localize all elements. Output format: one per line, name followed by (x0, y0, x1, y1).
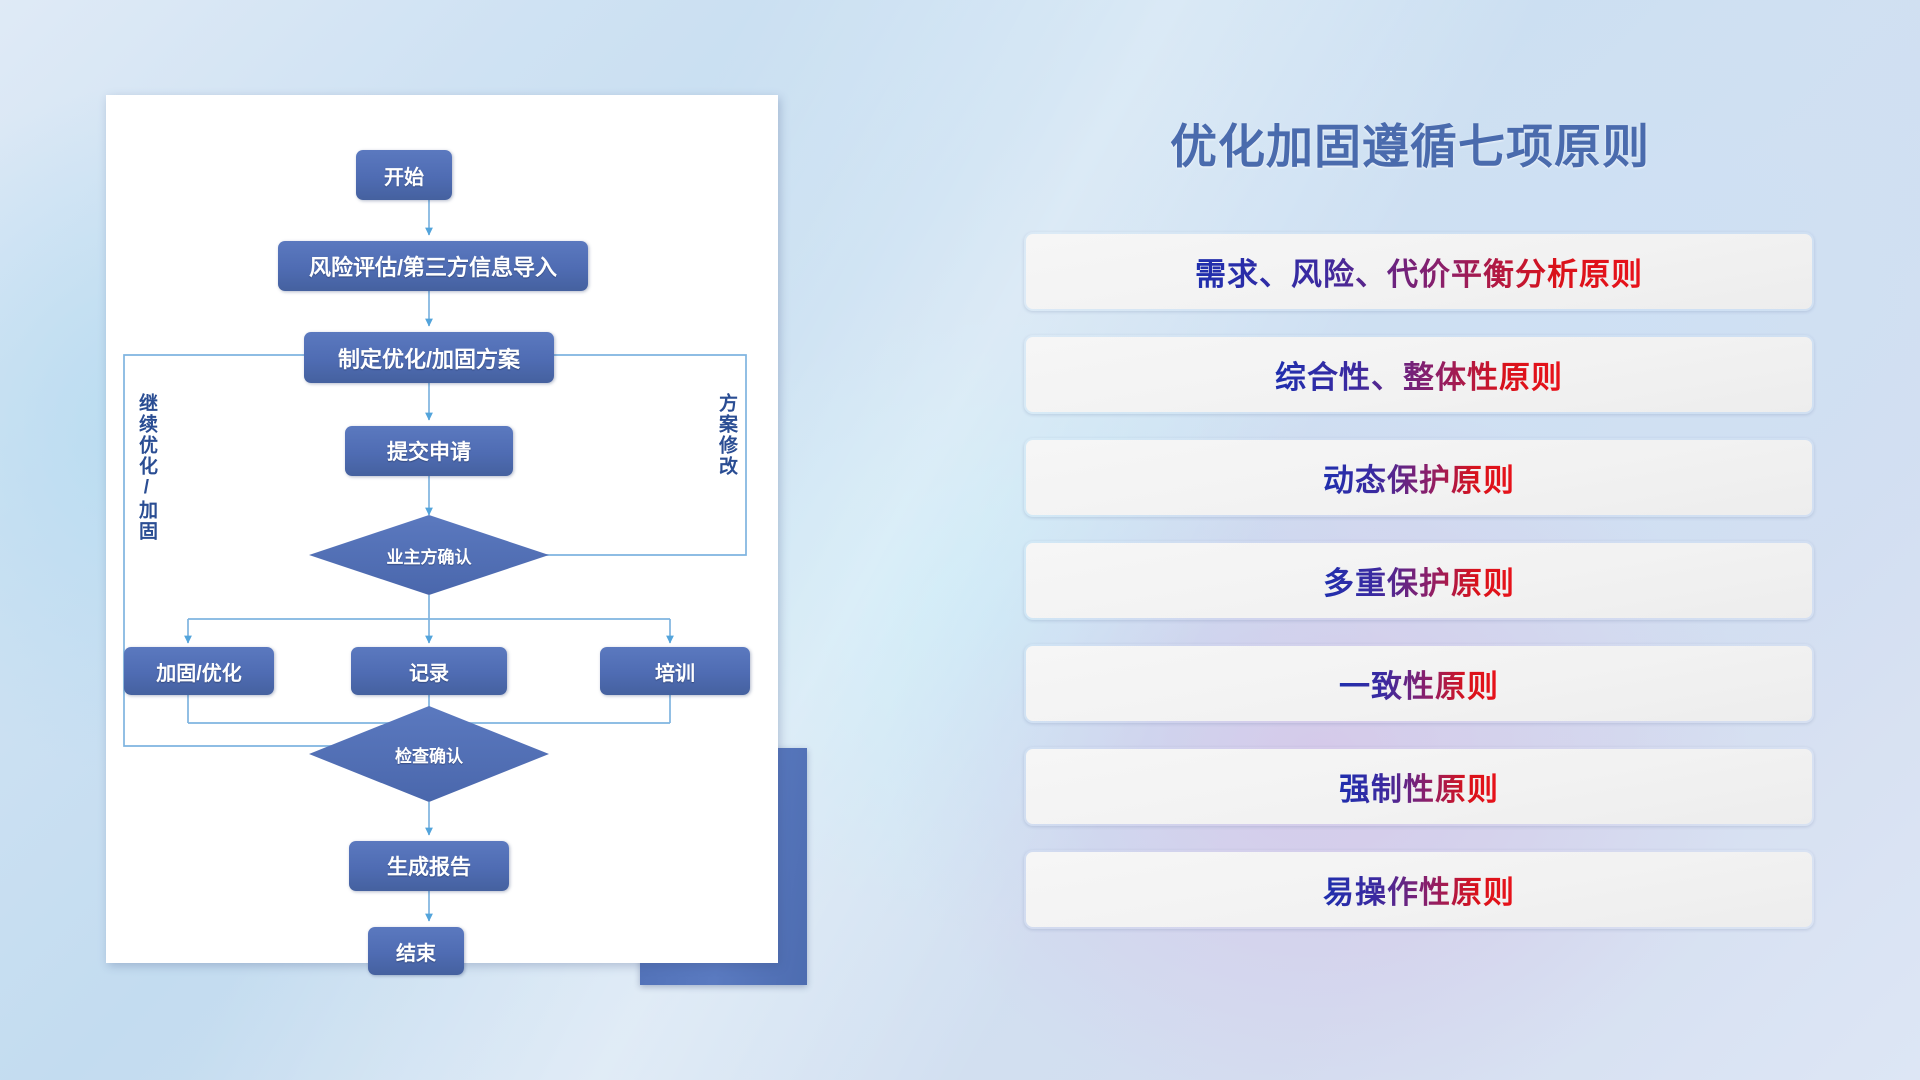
flow-node-start[interactable]: 开始 (356, 150, 452, 200)
principle-card-label: 动态保护原则 (1323, 455, 1515, 500)
principle-card[interactable]: 动态保护原则 (1024, 438, 1814, 517)
principle-card-label: 综合性、整体性原则 (1275, 352, 1563, 397)
flow-node-label: 风险评估/第三方信息导入 (309, 250, 557, 282)
flow-node-submit-application[interactable]: 提交申请 (345, 426, 513, 476)
flow-node-label: 提交申请 (387, 436, 471, 466)
principle-card-label: 强制性原则 (1339, 764, 1499, 809)
principle-card[interactable]: 易操作性原则 (1024, 850, 1814, 929)
flow-node-label: 培训 (655, 657, 695, 686)
flow-node-risk-assessment[interactable]: 风险评估/第三方信息导入 (278, 241, 588, 291)
flow-node-generate-report[interactable]: 生成报告 (349, 841, 509, 891)
principle-card[interactable]: 强制性原则 (1024, 747, 1814, 826)
edge-label-plan-revision: 方案修改 (716, 393, 736, 543)
edge-label-continue-optimize: 继续优化/加固 (136, 393, 156, 623)
principle-card[interactable]: 综合性、整体性原则 (1024, 335, 1814, 414)
principles-panel-title: 优化加固遵循七项原则 (1150, 108, 1670, 177)
flow-node-plan[interactable]: 制定优化/加固方案 (304, 332, 554, 383)
flow-node-label: 业主方确认 (387, 543, 472, 568)
flow-node-training[interactable]: 培训 (600, 647, 750, 695)
principle-card[interactable]: 多重保护原则 (1024, 541, 1814, 620)
flowchart-card: 开始 风险评估/第三方信息导入 制定优化/加固方案 提交申请 业主方确认 加固/… (106, 95, 778, 963)
principle-card[interactable]: 一致性原则 (1024, 644, 1814, 723)
principle-card-label: 多重保护原则 (1323, 558, 1515, 603)
flow-node-label: 记录 (409, 657, 449, 686)
principle-card[interactable]: 需求、风险、代价平衡分析原则 (1024, 232, 1814, 311)
flow-node-label: 制定优化/加固方案 (338, 342, 520, 374)
principles-card-list: 需求、风险、代价平衡分析原则 综合性、整体性原则 动态保护原则 多重保护原则 一… (1024, 232, 1810, 953)
flow-node-reinforce-optimize[interactable]: 加固/优化 (124, 647, 274, 695)
flow-node-label: 开始 (384, 161, 424, 190)
flow-node-label: 结束 (396, 937, 436, 966)
principle-card-label: 一致性原则 (1339, 661, 1499, 706)
flow-node-record[interactable]: 记录 (351, 647, 507, 695)
flow-node-end[interactable]: 结束 (368, 927, 464, 975)
principle-card-label: 需求、风险、代价平衡分析原则 (1195, 249, 1643, 294)
flow-node-label: 检查确认 (395, 742, 463, 767)
principle-card-label: 易操作性原则 (1323, 867, 1515, 912)
flow-node-label: 生成报告 (387, 851, 471, 881)
flow-node-label: 加固/优化 (156, 657, 242, 686)
